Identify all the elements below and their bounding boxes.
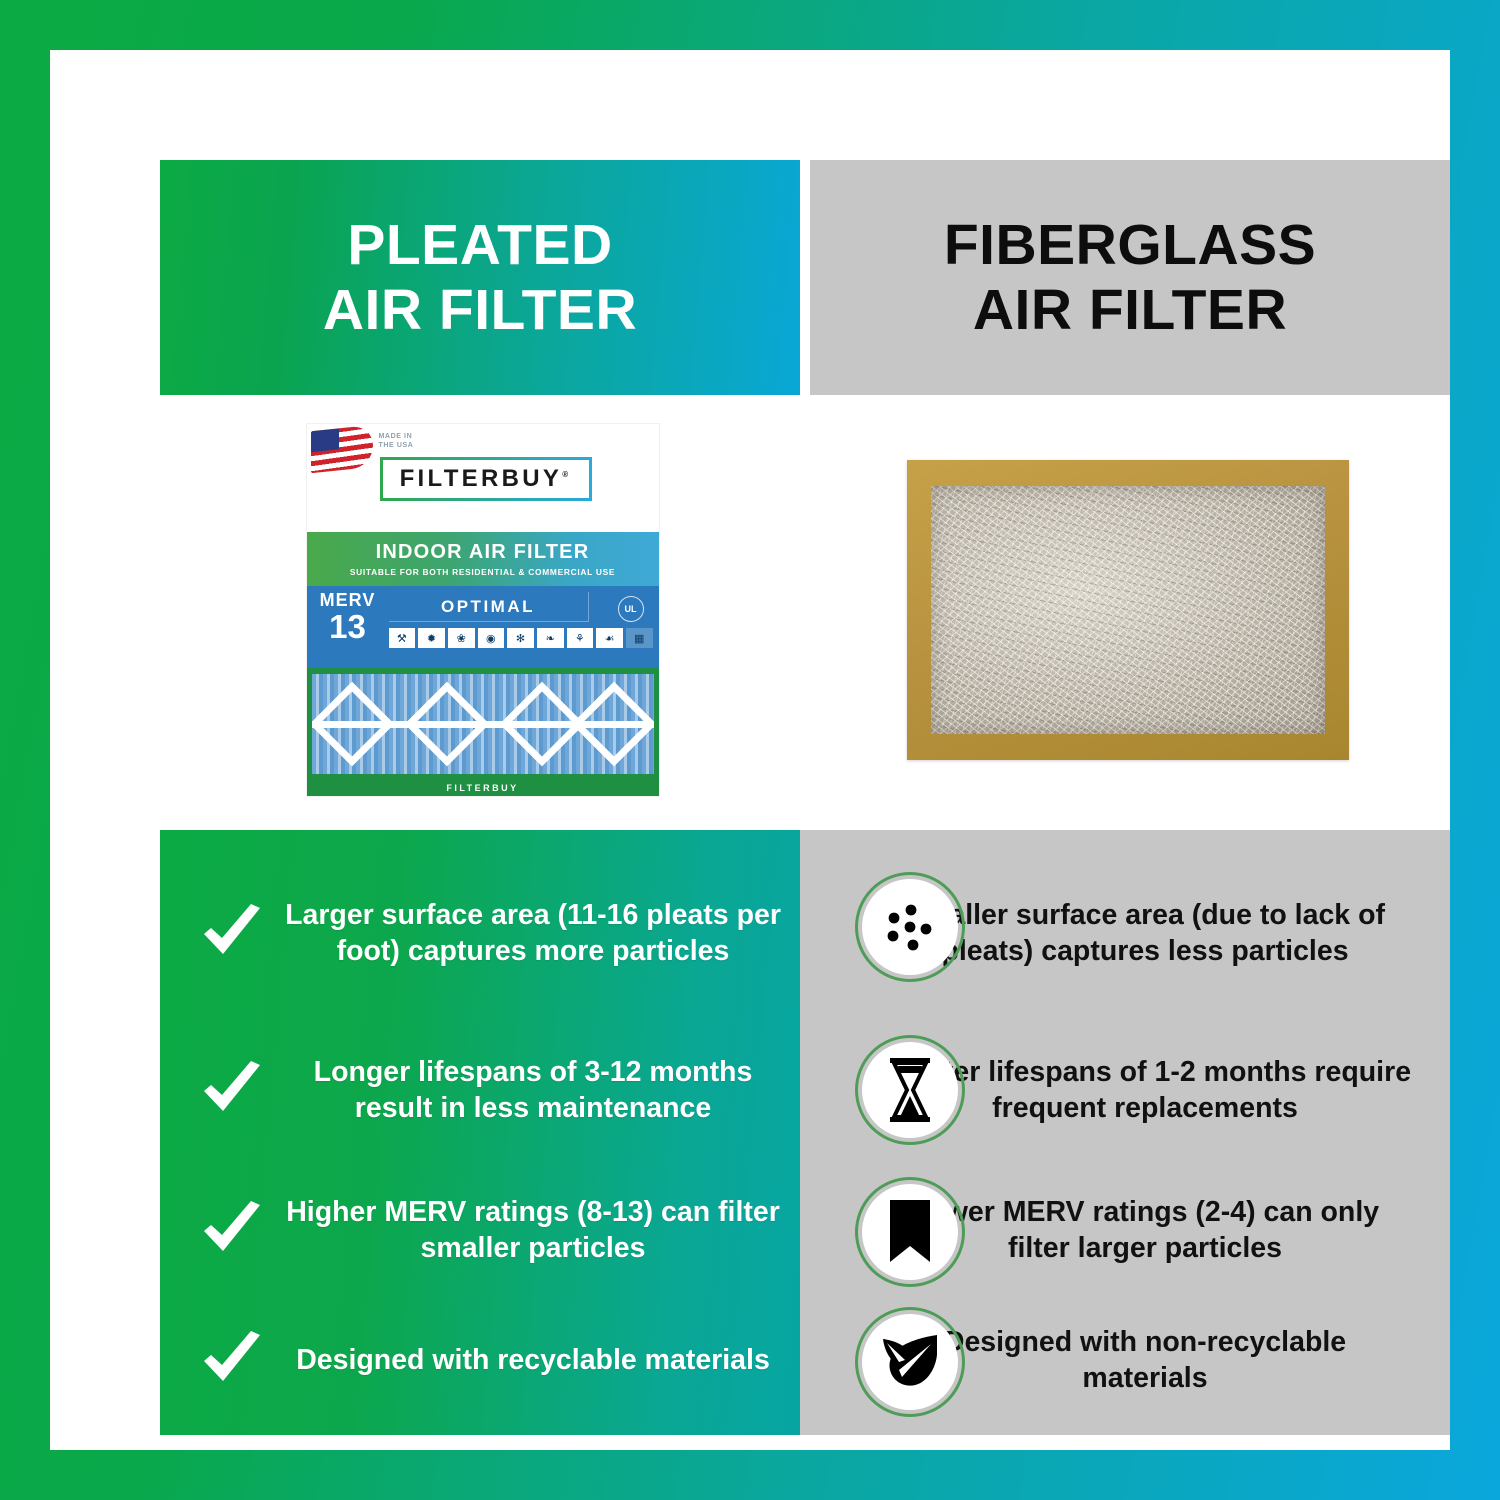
support-wire-diamond [404, 682, 489, 767]
fiberglass-mesh-media [931, 486, 1325, 734]
fiberglass-header-panel: FIBERGLASS AIR FILTER [810, 160, 1450, 395]
pleated-filter-image: MADE IN THE USA FILTERBUY® INDOOR AIR FI… [307, 424, 659, 796]
row-1-pleated-side: Larger surface area (11-16 pleats per fo… [160, 894, 800, 972]
row-1-pleated-text: Larger surface area (11-16 pleats per fo… [284, 897, 800, 970]
pleated-title-line1: PLEATED [323, 213, 637, 277]
checkmark-icon [192, 1051, 270, 1129]
pleated-title-line2: AIR FILTER [323, 278, 637, 342]
row-3-pleated-text: Higher MERV ratings (8-13) can filter sm… [284, 1194, 800, 1267]
product-image-row: MADE IN THE USA FILTERBUY® INDOOR AIR FI… [160, 410, 1450, 810]
capture-icon-pollen: ❀ [448, 628, 475, 650]
pleated-label-band: INDOOR AIR FILTER SUITABLE FOR BOTH RESI… [307, 532, 659, 586]
ul-mark-text: UL [618, 596, 644, 622]
row-2-pleated-side: Longer lifespans of 3-12 months result i… [160, 1051, 800, 1129]
pleated-label-specs: MERV 13 OPTIMAL UL ⚒ ✹ ❀ ◉ ✻ [307, 586, 659, 668]
capture-icon-dust-mites: ✹ [418, 628, 445, 650]
indoor-air-filter-text: INDOOR AIR FILTER [376, 541, 590, 564]
tier-label: OPTIMAL [389, 592, 589, 622]
made-in-usa-text: MADE IN THE USA [379, 432, 414, 451]
fiberglass-title-line2: AIR FILTER [944, 278, 1316, 342]
merv-value: 13 [315, 611, 381, 642]
capture-icon-extra: ▦ [626, 628, 653, 650]
checkmark-icon [192, 1321, 270, 1399]
capture-icon-mold: ◉ [478, 628, 505, 650]
row-4-pleated-side: Designed with recyclable materials [160, 1321, 800, 1399]
fiberglass-filter-image [907, 460, 1349, 760]
pleated-label-top: MADE IN THE USA FILTERBUY® [307, 424, 659, 532]
header-band: PLEATED AIR FILTER FIBERGLASS AIR FILTER [160, 160, 1450, 395]
filterbuy-logo: FILTERBUY® [380, 457, 592, 501]
support-wire-diamond [312, 682, 394, 767]
comparison-panel: Larger surface area (11-16 pleats per fo… [160, 830, 1450, 1435]
merv-rating-block: MERV 13 [315, 590, 381, 642]
outer-gradient-frame: PLEATED AIR FILTER FIBERGLASS AIR FILTER [0, 0, 1500, 1500]
fiberglass-header-title: FIBERGLASS AIR FILTER [944, 213, 1316, 342]
capture-icon-dander: ❧ [537, 628, 564, 650]
row-2-pleated-text: Longer lifespans of 3-12 months result i… [284, 1054, 800, 1127]
row-4-pleated-text: Designed with recyclable materials [284, 1342, 800, 1378]
capture-icon-smog: ⚘ [567, 628, 594, 650]
checkmark-icon [192, 894, 270, 972]
comparison-row-3: Higher MERV ratings (8-13) can filter sm… [160, 1170, 1450, 1290]
pleated-media-area: FILTERBUY [307, 668, 659, 796]
checkmark-icon [192, 1191, 270, 1269]
hourglass-icon [855, 1035, 965, 1145]
ul-certification-icon: UL [611, 592, 651, 626]
fiberglass-product-cell [805, 410, 1450, 810]
comparison-row-1: Larger surface area (11-16 pleats per fo… [160, 858, 1450, 1008]
comparison-row-2: Longer lifespans of 3-12 months result i… [160, 1030, 1450, 1150]
capture-icon-bacteria: ☙ [596, 628, 623, 650]
pleated-footer-brand: FILTERBUY [307, 783, 659, 793]
pleated-header-title: PLEATED AIR FILTER [323, 213, 637, 342]
row-3-pleated-side: Higher MERV ratings (8-13) can filter sm… [160, 1191, 800, 1269]
header-divider [800, 160, 810, 395]
particles-icon [855, 872, 965, 982]
leaf-icon [855, 1307, 965, 1417]
pleated-header-panel: PLEATED AIR FILTER [160, 160, 800, 395]
fiberglass-title-line1: FIBERGLASS [944, 213, 1316, 277]
capture-icon-dust: ⚒ [389, 628, 416, 650]
pleated-product-cell: MADE IN THE USA FILTERBUY® INDOOR AIR FI… [160, 410, 805, 810]
usa-flag-icon [311, 425, 373, 474]
band-subtitle-text: SUITABLE FOR BOTH RESIDENTIAL & COMMERCI… [350, 567, 615, 577]
comparison-row-4: Designed with recyclable materials Desig… [160, 1300, 1450, 1420]
capture-icon-strip: ⚒ ✹ ❀ ◉ ✻ ❧ ⚘ ☙ ▦ [389, 628, 653, 664]
white-canvas: PLEATED AIR FILTER FIBERGLASS AIR FILTER [50, 50, 1450, 1450]
support-wire-diamond [571, 682, 653, 767]
capture-icon-lint: ✻ [507, 628, 534, 650]
pleated-media-texture [312, 674, 654, 774]
filterbuy-logo-text: FILTERBUY® [400, 465, 572, 493]
bookmark-icon [855, 1177, 965, 1287]
